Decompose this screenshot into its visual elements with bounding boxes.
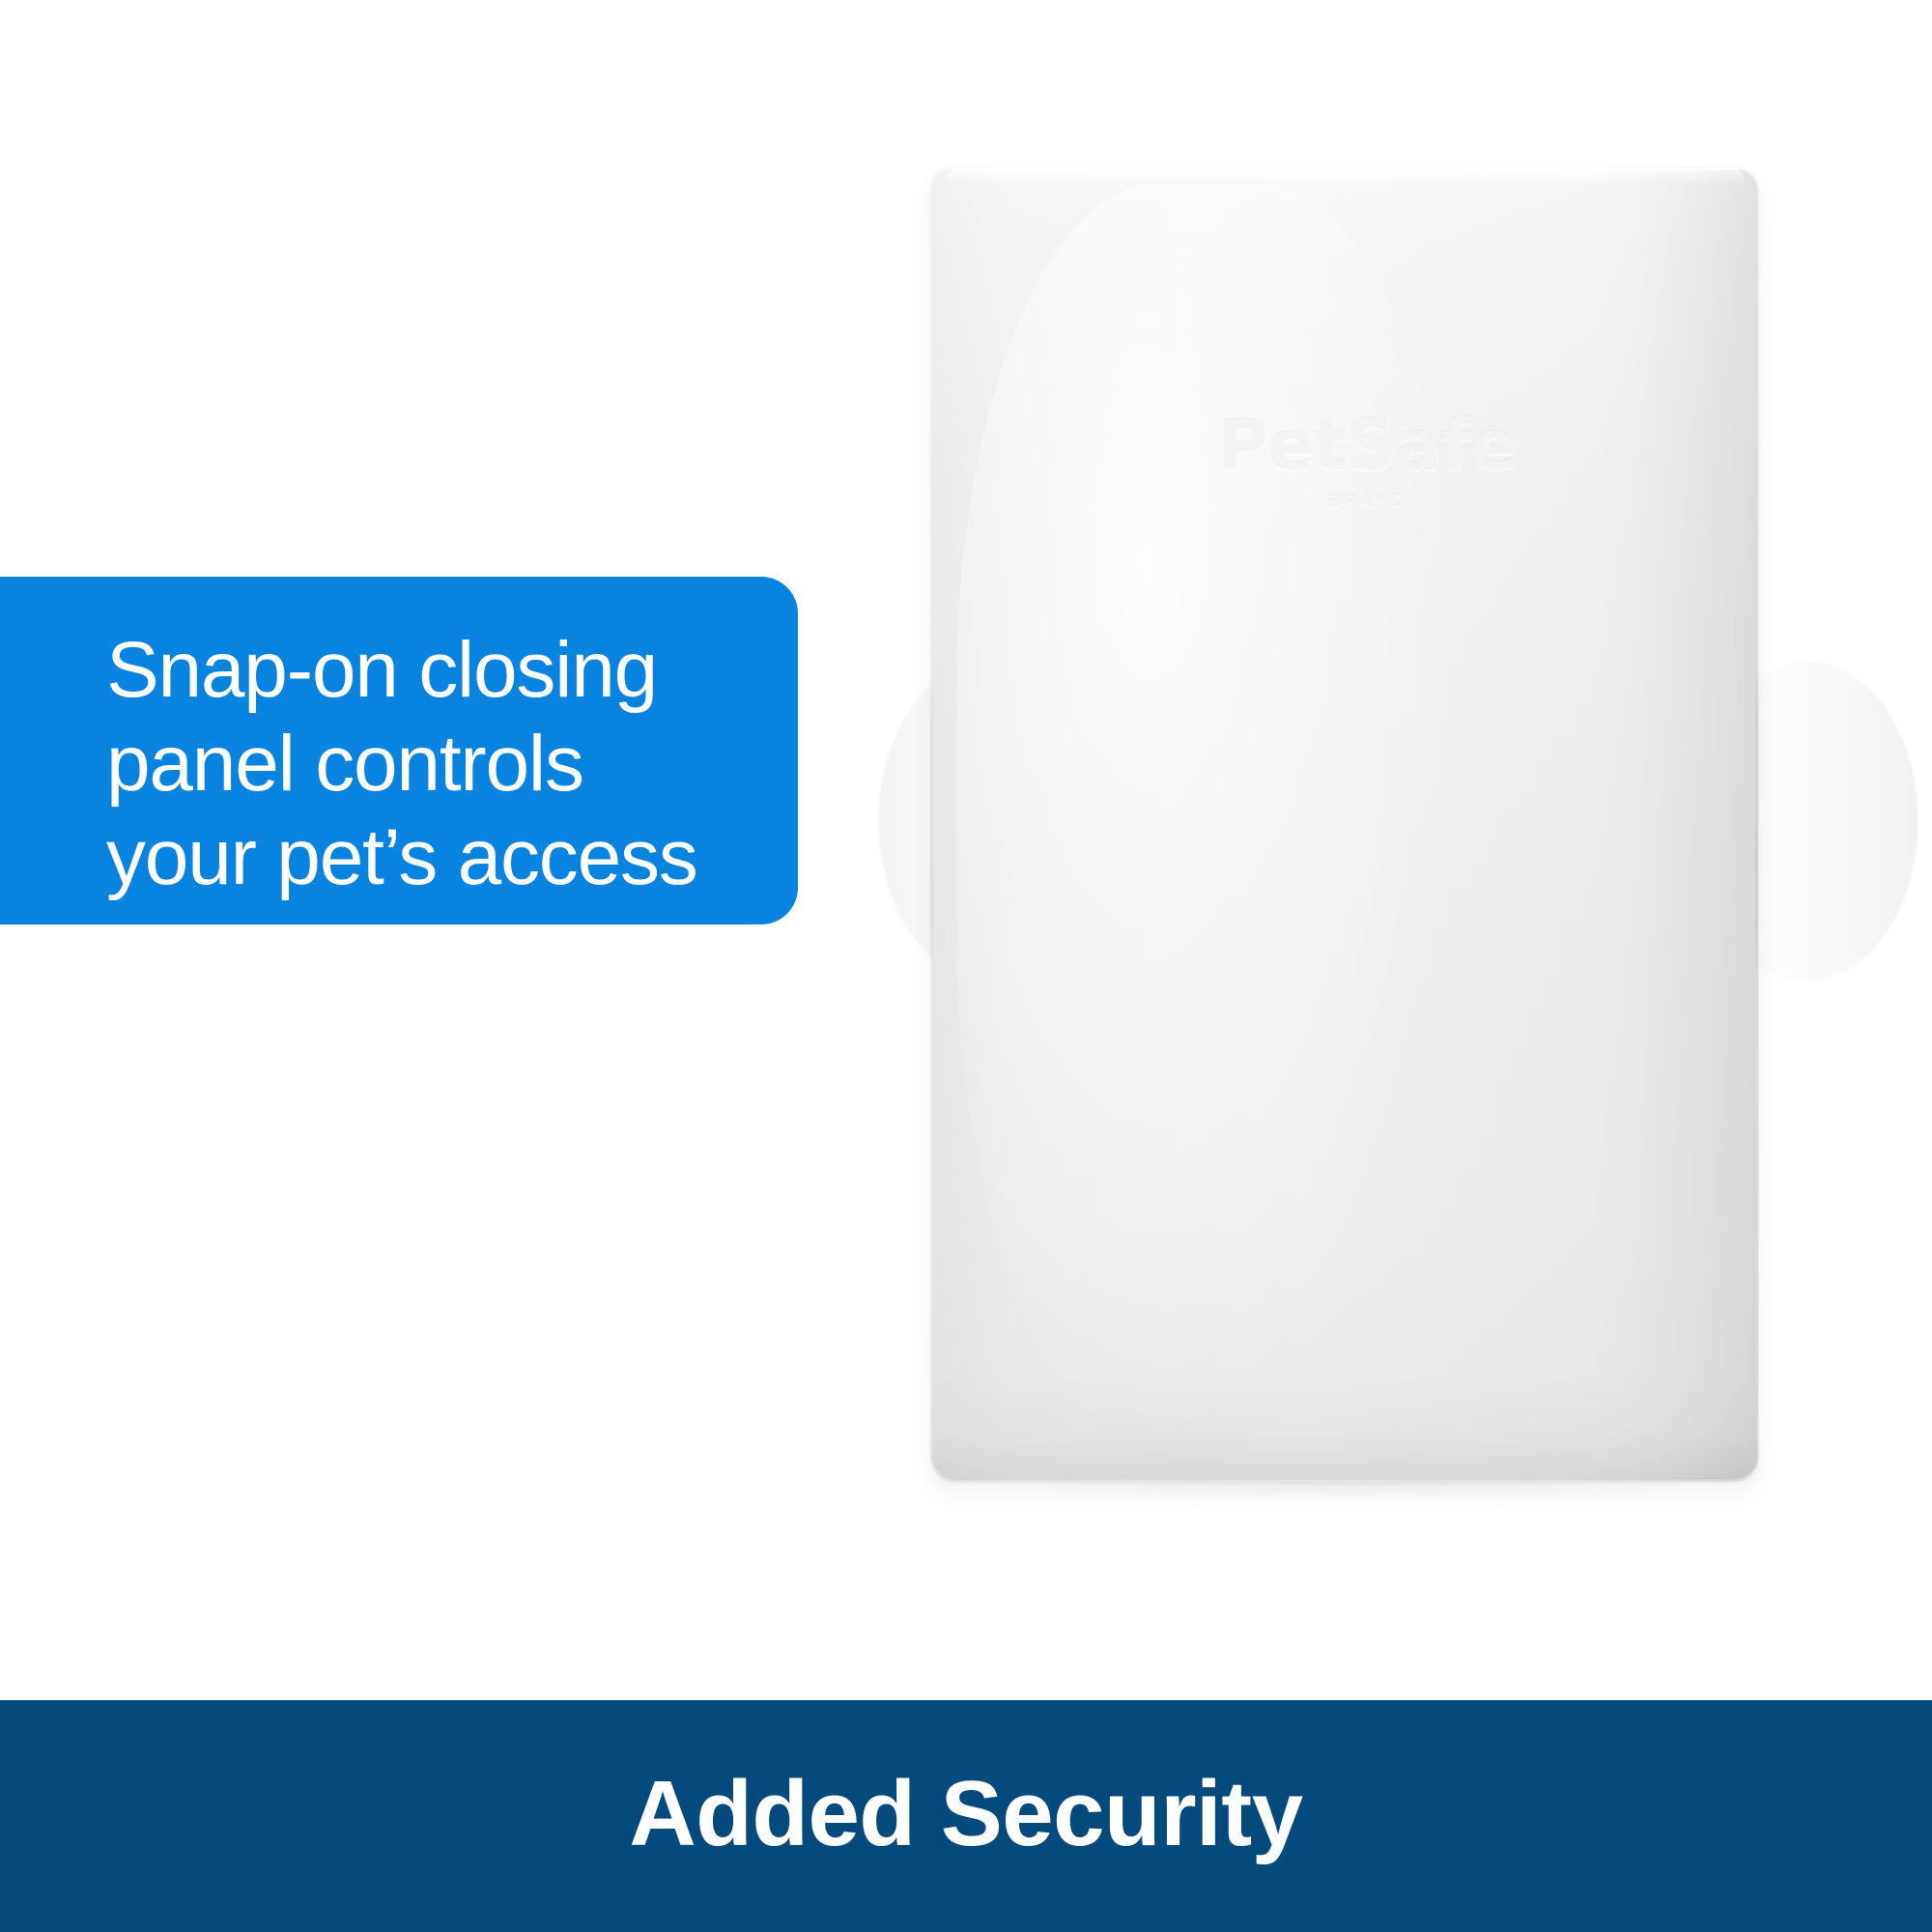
- panel-top-edge-highlight: [947, 168, 1745, 184]
- left-tab-crease: [930, 667, 933, 978]
- feature-callout-text: Snap-on closing panel controls your pet’…: [106, 623, 759, 904]
- right-tab-crease: [1755, 667, 1758, 978]
- embossed-brand-logo: PetSafe BRAND: [1174, 411, 1560, 513]
- banner-title-text: Added Security: [629, 1768, 1302, 1861]
- petsafe-wordmark: PetSafe: [1174, 411, 1560, 480]
- bottom-title-banner: Added Security: [0, 1700, 1932, 1932]
- product-feature-image: PetSafe BRAND Snap-on closing panel cont…: [0, 0, 1932, 1932]
- petsafe-subtext: BRAND: [1174, 492, 1560, 513]
- feature-callout-banner: Snap-on closing panel controls your pet’…: [0, 577, 798, 924]
- closing-panel-face: [930, 166, 1759, 1482]
